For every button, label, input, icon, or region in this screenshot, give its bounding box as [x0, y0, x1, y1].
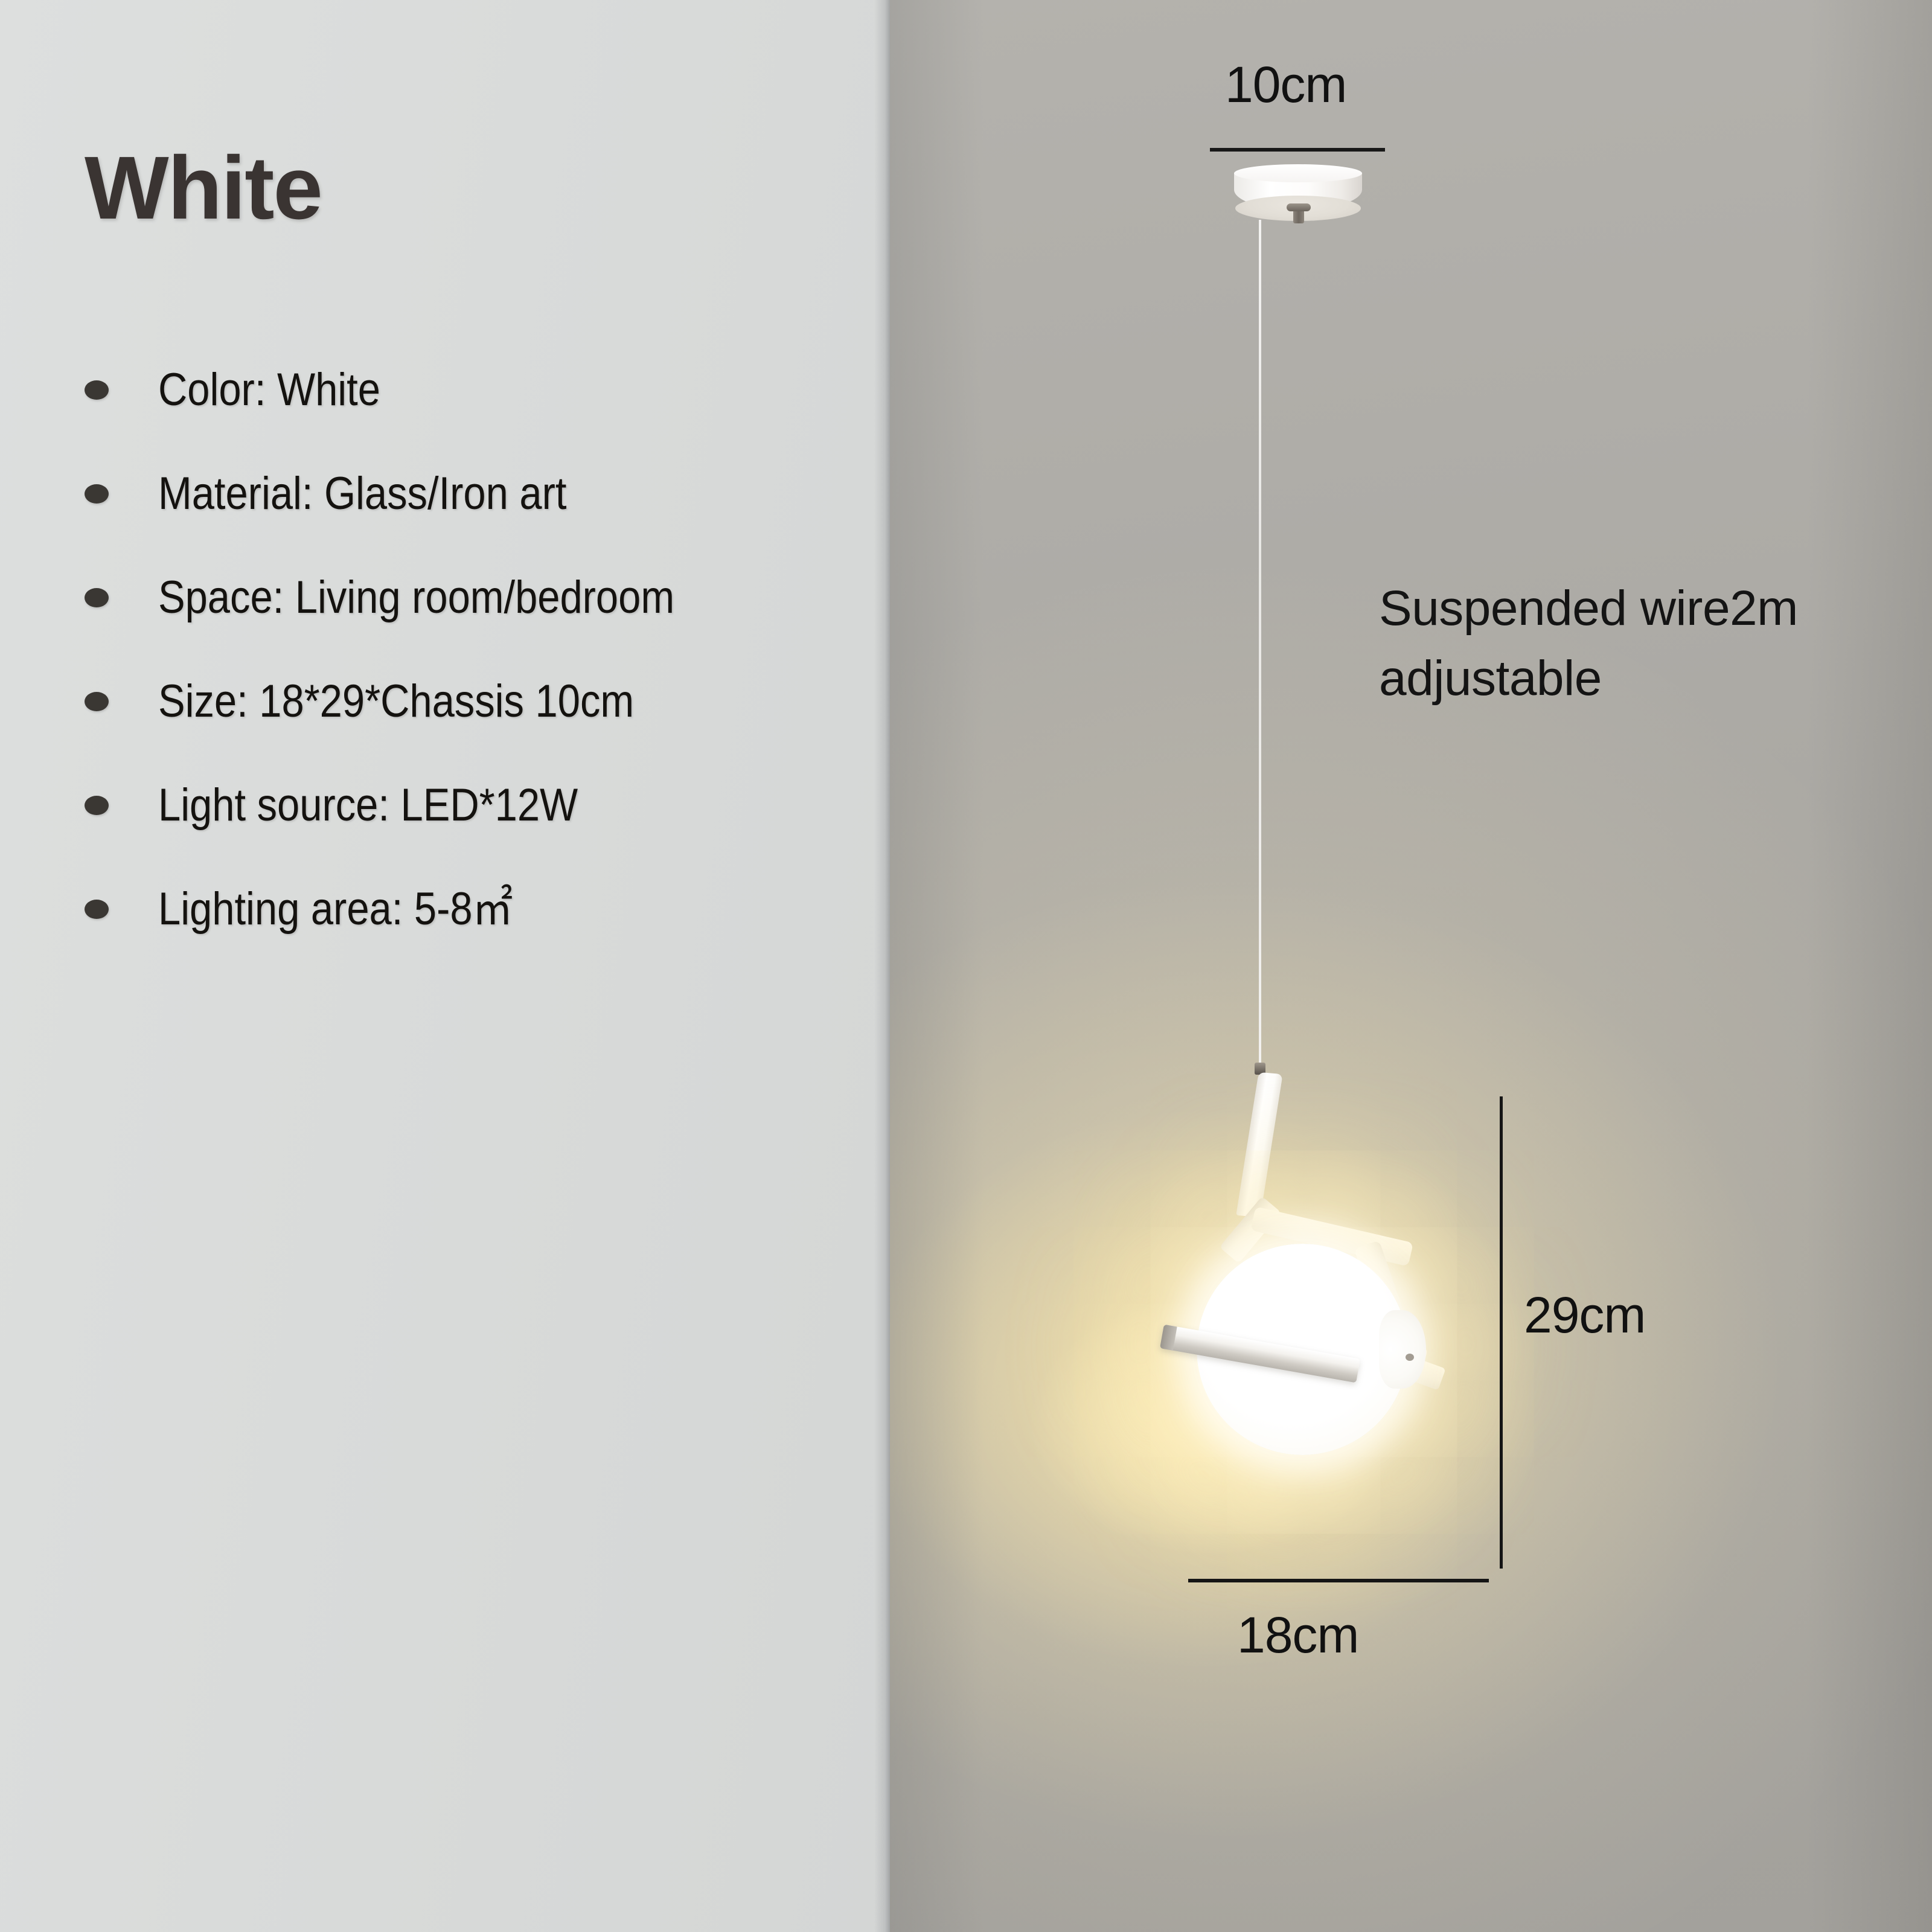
- globe-side-cap: [1379, 1310, 1426, 1389]
- dimension-line-canopy: [1210, 148, 1385, 152]
- spiral-ribbon-segment: [1236, 1072, 1282, 1218]
- bullet-icon: [85, 692, 109, 711]
- dimension-line-height: [1500, 1096, 1503, 1569]
- square-meter-unit: ㎡: [473, 884, 513, 935]
- spec-item-material: Material: Glass/Iron art: [78, 442, 875, 546]
- pendant-lamp-fixture: [1089, 1069, 1524, 1612]
- suspended-wire-note: Suspended wire2m adjustable: [1379, 574, 1798, 714]
- dimension-label-canopy: 10cm: [1225, 56, 1346, 114]
- wire-note-line-1: Suspended wire2m: [1379, 574, 1798, 644]
- spec-item-label: Color: White: [158, 367, 380, 413]
- page-title: White: [85, 144, 322, 233]
- bullet-icon: [85, 900, 109, 919]
- panel-vignette: [890, 0, 1932, 1932]
- suspension-wire: [1259, 220, 1261, 1070]
- spec-panel: White Color: White Material: Glass/Iron …: [0, 0, 890, 1932]
- spec-item-label: Light source: LED*12W: [158, 782, 578, 828]
- product-infographic: White Color: White Material: Glass/Iron …: [0, 0, 1932, 1932]
- spec-item-label: Material: Glass/Iron art: [158, 471, 566, 517]
- bullet-icon: [85, 380, 109, 400]
- bullet-icon: [85, 484, 109, 504]
- canopy-top-face: [1234, 164, 1362, 182]
- bullet-icon: [85, 796, 109, 815]
- wire-note-line-2: adjustable: [1379, 644, 1798, 714]
- spec-item-label: Size: 18*29*Chassis 10cm: [158, 679, 634, 724]
- spec-item-label: Space: Living room/bedroom: [158, 575, 674, 621]
- spec-item-color: Color: White: [78, 338, 875, 442]
- dimension-label-width: 18cm: [1237, 1606, 1358, 1665]
- spec-item-lighting-area-text: Lighting area: 5-8㎡: [158, 886, 513, 932]
- spec-item-space: Space: Living room/bedroom: [78, 546, 875, 650]
- spec-item-size: Size: 18*29*Chassis 10cm: [78, 650, 875, 753]
- dimension-line-width: [1188, 1579, 1489, 1582]
- spec-item-label: Lighting area: 5-8: [158, 883, 473, 935]
- ceiling-canopy: [1234, 164, 1362, 222]
- spec-list: Color: White Material: Glass/Iron art Sp…: [78, 338, 875, 961]
- dimension-label-height: 29cm: [1524, 1286, 1645, 1345]
- product-photo-panel: 10cm Suspended wire2m adjustable: [890, 0, 1932, 1932]
- canopy-wire-connector: [1293, 208, 1304, 223]
- bullet-icon: [85, 588, 109, 607]
- spec-item-lighting-area: Lighting area: 5-8㎡: [78, 857, 875, 961]
- globe-screw-icon: [1406, 1354, 1414, 1361]
- spec-item-light-source: Light source: LED*12W: [78, 753, 875, 857]
